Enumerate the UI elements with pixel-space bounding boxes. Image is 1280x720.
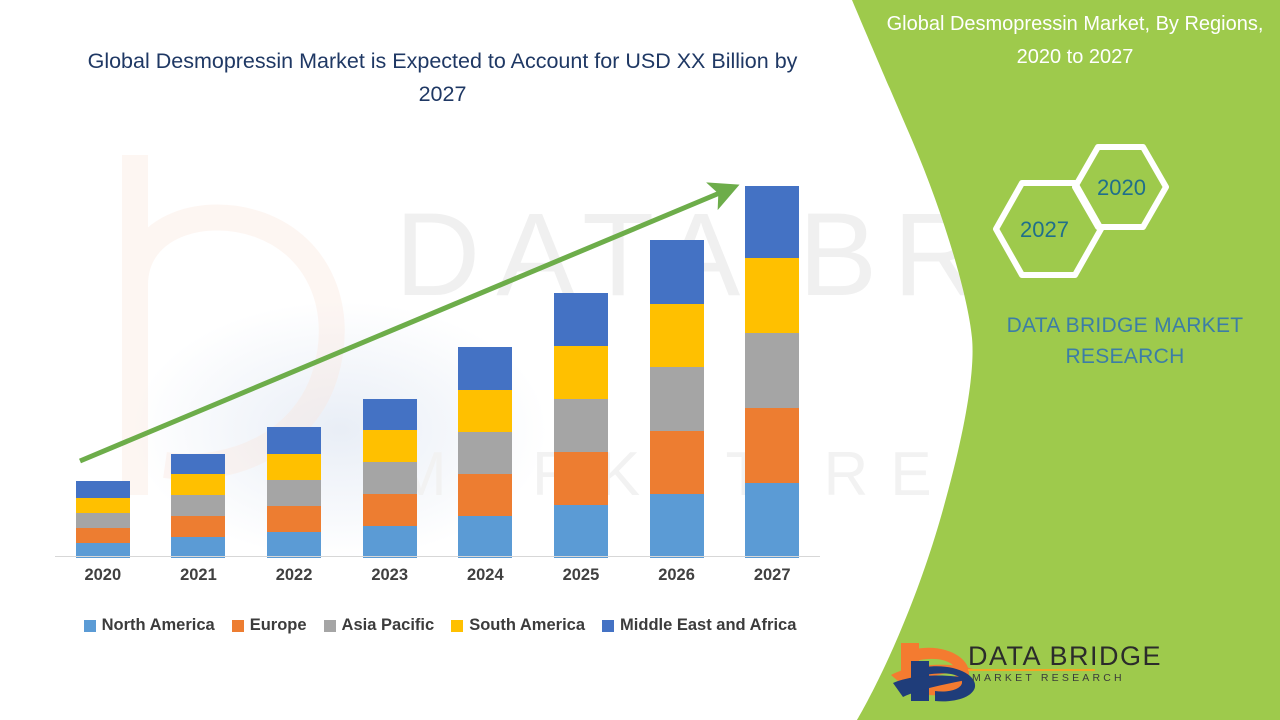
bar-2022 xyxy=(267,427,321,558)
logo-tagline: MARKET RESEARCH xyxy=(972,672,1125,684)
bar-segment-south-america xyxy=(267,454,321,480)
bar-2026 xyxy=(650,240,704,558)
bar-segment-middle-east-and-africa xyxy=(554,293,608,346)
x-axis-label-2021: 2021 xyxy=(158,566,238,585)
page-title: Global Desmopressin Market is Expected t… xyxy=(80,45,805,111)
hexagon-2020-label: 2020 xyxy=(1097,175,1146,201)
bar-segment-north-america xyxy=(171,537,225,558)
bar-segment-middle-east-and-africa xyxy=(745,186,799,258)
legend-item-middle-east-and-africa[interactable]: Middle East and Africa xyxy=(602,616,796,635)
bar-segment-europe xyxy=(171,516,225,537)
legend-item-europe[interactable]: Europe xyxy=(232,616,307,635)
bar-segment-europe xyxy=(267,506,321,532)
bar-segment-north-america xyxy=(458,516,512,558)
bar-segment-south-america xyxy=(554,346,608,399)
bar-segment-south-america xyxy=(76,498,130,513)
bar-chart-plot xyxy=(55,150,820,558)
hexagon-2027-label: 2027 xyxy=(1020,217,1069,243)
bar-2020 xyxy=(76,481,130,558)
bar-segment-middle-east-and-africa xyxy=(458,347,512,390)
legend-item-north-america[interactable]: North America xyxy=(84,616,215,635)
bar-segment-europe xyxy=(76,528,130,543)
x-axis-label-2020: 2020 xyxy=(63,566,143,585)
bar-segment-asia-pacific xyxy=(267,480,321,506)
bar-2021 xyxy=(171,454,225,558)
bar-segment-north-america xyxy=(267,532,321,558)
brand-name-line1: DATA BRIDGE MARKET xyxy=(975,310,1275,341)
legend-label: Middle East and Africa xyxy=(620,616,796,635)
logo-divider xyxy=(968,669,1095,671)
bar-segment-north-america xyxy=(363,526,417,558)
bar-segment-europe xyxy=(745,408,799,483)
brand-name-line2: RESEARCH xyxy=(975,341,1275,372)
legend-label: South America xyxy=(469,616,585,635)
bar-segment-middle-east-and-africa xyxy=(171,454,225,474)
bar-segment-south-america xyxy=(458,390,512,432)
legend-swatch-icon xyxy=(324,620,336,632)
slide-canvas: DATA BRIDGE MARKET RESEARCH Global Desmo… xyxy=(0,0,1280,720)
bar-segment-asia-pacific xyxy=(171,495,225,516)
legend-label: Europe xyxy=(250,616,307,635)
bar-segment-europe xyxy=(650,431,704,495)
x-axis-label-2023: 2023 xyxy=(350,566,430,585)
x-axis-line xyxy=(55,556,820,557)
bar-2027 xyxy=(745,186,799,558)
x-axis-label-2024: 2024 xyxy=(445,566,525,585)
bar-segment-south-america xyxy=(363,430,417,462)
x-axis-label-2022: 2022 xyxy=(254,566,334,585)
legend-swatch-icon xyxy=(451,620,463,632)
bar-segment-middle-east-and-africa xyxy=(650,240,704,304)
bar-segment-south-america xyxy=(745,258,799,333)
bar-segment-north-america xyxy=(745,483,799,558)
bar-segment-europe xyxy=(458,474,512,516)
x-axis-label-2027: 2027 xyxy=(732,566,812,585)
legend-swatch-icon xyxy=(232,620,244,632)
x-axis-label-2025: 2025 xyxy=(541,566,621,585)
bar-2023 xyxy=(363,399,417,558)
legend-item-south-america[interactable]: South America xyxy=(451,616,585,635)
panel-title: Global Desmopressin Market, By Regions, … xyxy=(880,8,1270,74)
bar-2024 xyxy=(458,347,512,558)
bar-segment-north-america xyxy=(650,494,704,558)
bar-segment-asia-pacific xyxy=(363,462,417,494)
chart-legend: North AmericaEuropeAsia PacificSouth Ame… xyxy=(55,616,825,635)
brand-name: DATA BRIDGE MARKET RESEARCH xyxy=(975,310,1275,372)
hexagon-shapes-icon xyxy=(980,135,1190,280)
hexagon-group: 2020 2027 xyxy=(980,135,1190,280)
bar-segment-middle-east-and-africa xyxy=(76,481,130,498)
logo-title: DATA BRIDGE xyxy=(968,641,1162,672)
bar-segment-middle-east-and-africa xyxy=(363,399,417,430)
x-axis-label-2026: 2026 xyxy=(637,566,717,585)
bar-segment-asia-pacific xyxy=(554,399,608,452)
bar-segment-europe xyxy=(363,494,417,526)
bar-segment-north-america xyxy=(554,505,608,558)
legend-swatch-icon xyxy=(84,620,96,632)
bar-segment-middle-east-and-africa xyxy=(267,427,321,454)
bar-segment-asia-pacific xyxy=(650,367,704,431)
bar-segment-asia-pacific xyxy=(745,333,799,408)
bar-segment-south-america xyxy=(171,474,225,495)
bar-segment-asia-pacific xyxy=(458,432,512,474)
bar-segment-south-america xyxy=(650,304,704,368)
bar-segment-europe xyxy=(554,452,608,505)
bar-2025 xyxy=(554,293,608,558)
legend-swatch-icon xyxy=(602,620,614,632)
bar-segment-asia-pacific xyxy=(76,513,130,528)
x-axis-labels: 20202021202220232024202520262027 xyxy=(55,566,820,594)
legend-label: Asia Pacific xyxy=(342,616,435,635)
legend-item-asia-pacific[interactable]: Asia Pacific xyxy=(324,616,435,635)
legend-label: North America xyxy=(102,616,215,635)
